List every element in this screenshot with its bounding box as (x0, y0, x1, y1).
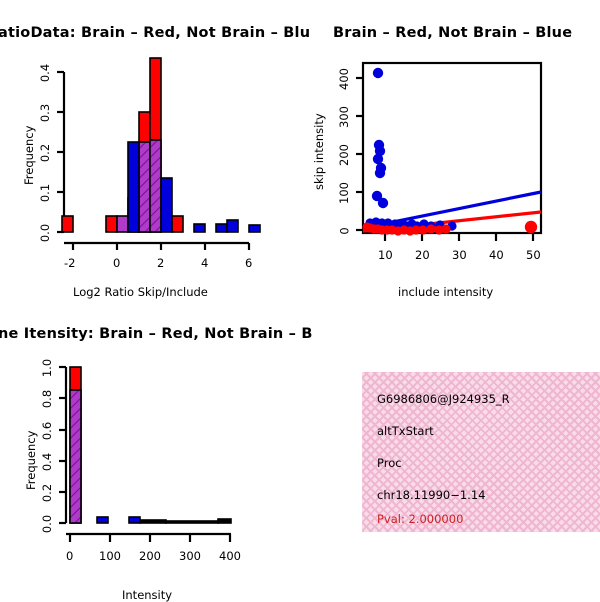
xtick-top-right-4: 50 (526, 248, 541, 262)
annotation-line-event-type: altTxStart (377, 424, 434, 438)
panel-annotation-box: G6986806@J924935_R altTxStart Proc chr18… (300, 300, 600, 600)
annotation-line-probe-id: G6986806@J924935_R (377, 392, 510, 406)
xtick-top-left-1: 0 (113, 256, 120, 270)
ytick-top-right-3: 300 (337, 106, 351, 128)
ytick-top-right-0: 0 (338, 227, 352, 234)
ytick-top-left-0: 0.0 (38, 224, 52, 242)
xtick-bottom-left-0: 0 (66, 549, 73, 563)
panel-gene-intensity-histogram: ne Itensity: Brain – Red, Not Brain – B … (0, 300, 300, 600)
panel-intensity-scatter: Brain – Red, Not Brain – Blue skip inten… (300, 0, 600, 300)
xtick-top-right-2: 30 (452, 248, 467, 262)
ytick-top-left-2: 0.2 (38, 144, 52, 162)
annotation-textbox: G6986806@J924935_R altTxStart Proc chr18… (362, 372, 600, 532)
xtick-top-left-4: 6 (245, 256, 252, 270)
ytick-top-right-1: 100 (337, 182, 351, 204)
annotation-line-category: Proc (377, 456, 402, 470)
xtick-top-right-0: 10 (378, 248, 393, 262)
ytick-top-left-4: 0.4 (38, 64, 52, 82)
ytick-bottom-left-2: 0.4 (40, 453, 54, 471)
xtick-bottom-left-1: 100 (99, 549, 121, 563)
ytick-top-right-2: 200 (337, 144, 351, 166)
xtick-top-right-1: 20 (415, 248, 430, 262)
ytick-bottom-left-3: 0.6 (40, 422, 54, 440)
ytick-top-left-3: 0.3 (38, 104, 52, 122)
xtick-bottom-left-2: 200 (139, 549, 161, 563)
xtick-top-right-3: 40 (489, 248, 504, 262)
ytick-bottom-left-5: 1.0 (40, 359, 54, 377)
xtick-top-left-2: 2 (157, 256, 164, 270)
annotation-line-pval: Pval: 2.000000 (377, 512, 463, 526)
xtick-top-left-0: -2 (64, 256, 75, 270)
xtick-top-left-3: 4 (201, 256, 208, 270)
ytick-bottom-left-4: 0.8 (40, 390, 54, 408)
ytick-bottom-left-1: 0.2 (40, 484, 54, 502)
ytick-top-right-4: 400 (337, 68, 351, 90)
annotation-line-locus: chr18.11990−1.14 (377, 488, 485, 502)
ytick-top-left-1: 0.1 (38, 184, 52, 202)
xtick-bottom-left-4: 400 (219, 549, 241, 563)
xtick-bottom-left-3: 300 (179, 549, 201, 563)
ytick-bottom-left-0: 0.0 (40, 515, 54, 533)
panel-log2-ratio-histogram: atioData: Brain – Red, Not Brain – Blu F… (0, 0, 300, 300)
